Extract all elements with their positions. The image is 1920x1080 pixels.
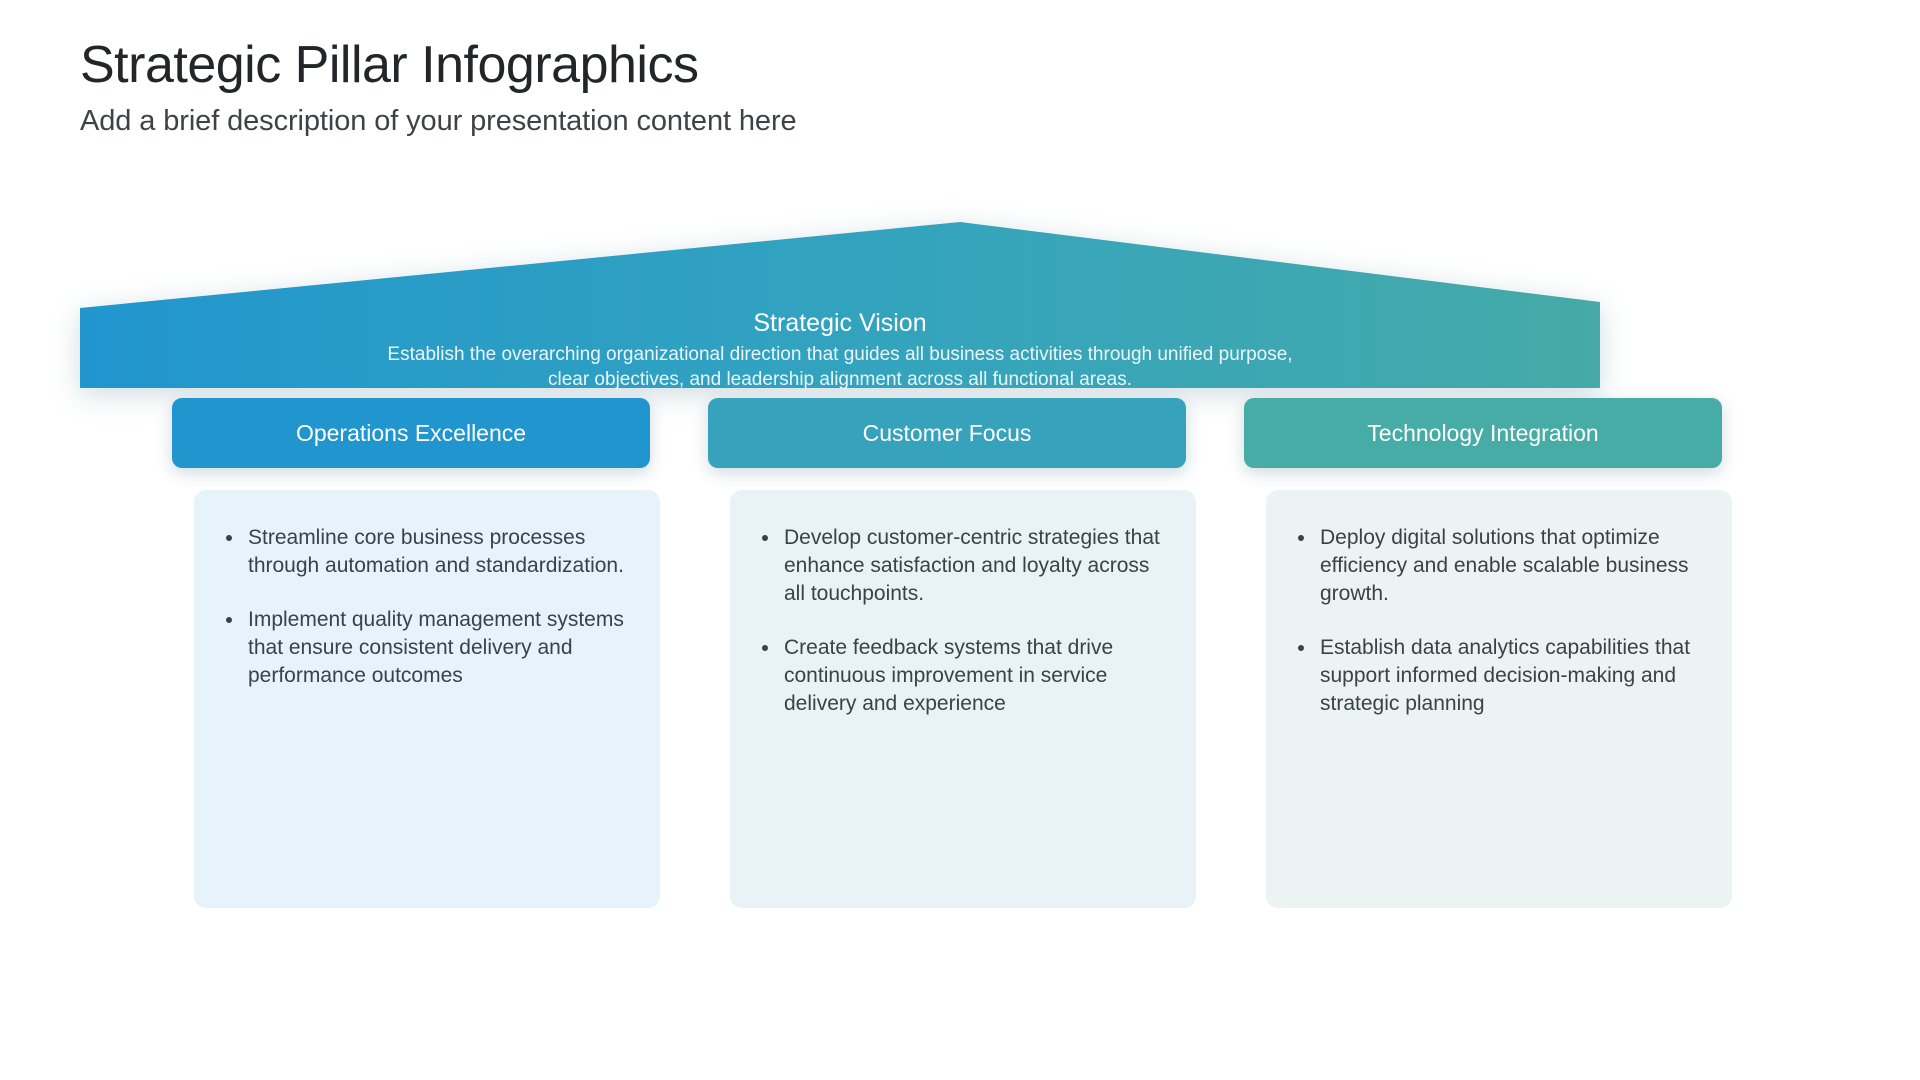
list-item: Streamline core business processes throu… — [220, 524, 630, 580]
bullet-list-operations-excellence: Streamline core business processes throu… — [220, 524, 630, 690]
pillar-columns: Operations Excellence Streamline core bu… — [172, 398, 1752, 908]
pillar-header-customer-focus[interactable]: Customer Focus — [708, 398, 1186, 468]
strategic-vision-roof[interactable]: Strategic Vision Establish the overarchi… — [80, 222, 1600, 388]
list-item: Implement quality management systems tha… — [220, 606, 630, 690]
pillar-customer-focus: Customer Focus Develop customer-centric … — [708, 398, 1186, 908]
bullet-list-technology-integration: Deploy digital solutions that optimize e… — [1292, 524, 1702, 718]
pillar-body-technology-integration: Deploy digital solutions that optimize e… — [1266, 490, 1732, 908]
slide-header: Strategic Pillar Infographics Add a brie… — [80, 36, 1480, 139]
page-subtitle: Add a brief description of your presenta… — [80, 104, 1480, 139]
pillar-technology-integration: Technology Integration Deploy digital so… — [1244, 398, 1722, 908]
pillar-header-technology-integration[interactable]: Technology Integration — [1244, 398, 1722, 468]
pillar-body-operations-excellence: Streamline core business processes throu… — [194, 490, 660, 908]
list-item: Develop customer-centric strategies that… — [756, 524, 1166, 608]
roof-shape-icon — [80, 222, 1600, 388]
slide-canvas: Strategic Pillar Infographics Add a brie… — [0, 0, 1920, 1080]
pillar-body-customer-focus: Develop customer-centric strategies that… — [730, 490, 1196, 908]
page-title: Strategic Pillar Infographics — [80, 36, 1480, 94]
bullet-list-customer-focus: Develop customer-centric strategies that… — [756, 524, 1166, 718]
pillar-operations-excellence: Operations Excellence Streamline core bu… — [172, 398, 650, 908]
list-item: Establish data analytics capabilities th… — [1292, 634, 1702, 718]
pillar-header-operations-excellence[interactable]: Operations Excellence — [172, 398, 650, 468]
list-item: Create feedback systems that drive conti… — [756, 634, 1166, 718]
list-item: Deploy digital solutions that optimize e… — [1292, 524, 1702, 608]
